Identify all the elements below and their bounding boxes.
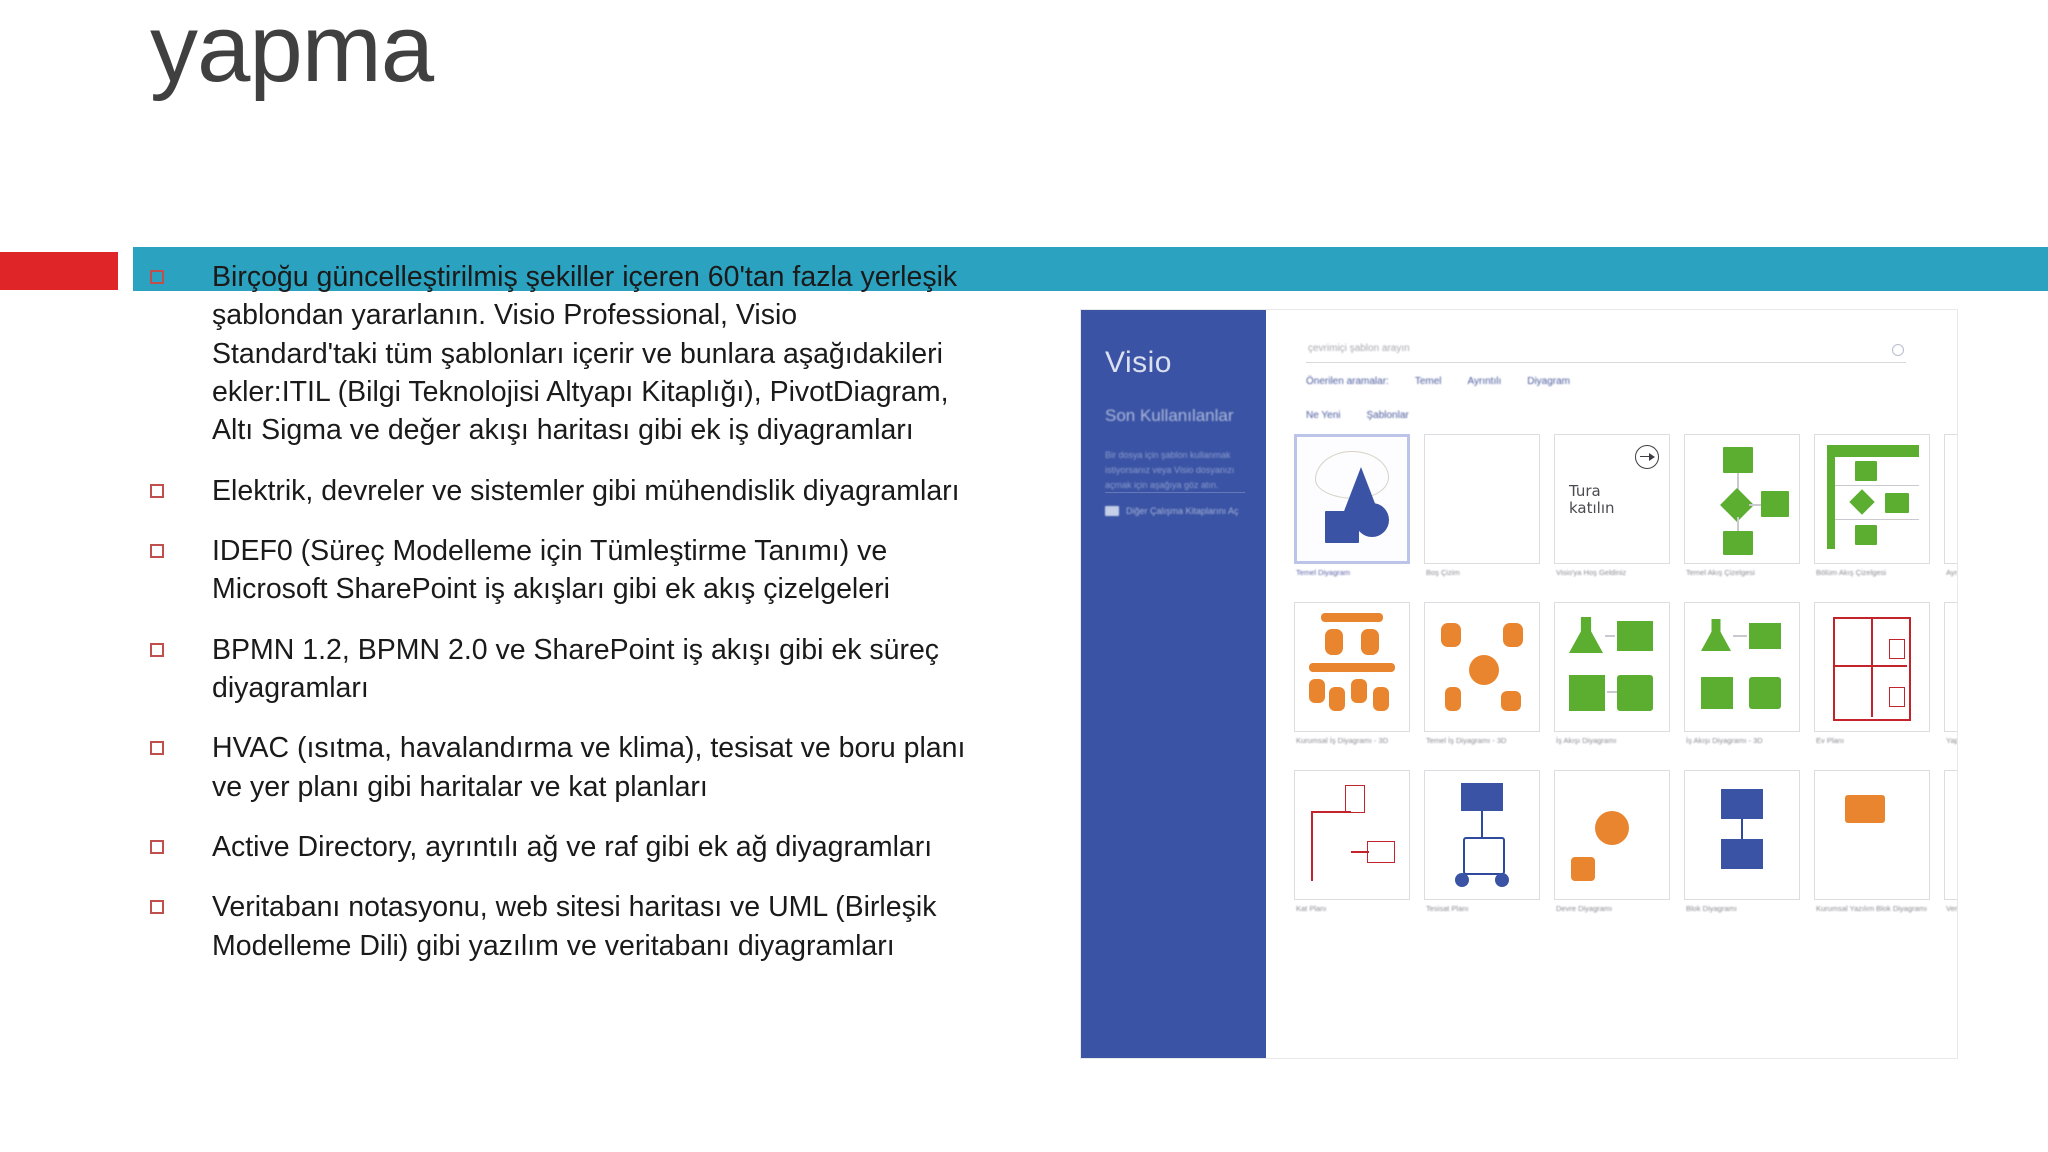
template-tile-block-diagram[interactable]: Blok Diyagramı [1684, 770, 1800, 932]
valve-icon [1455, 873, 1469, 887]
suggested-searches-label: Önerilen aramalar: [1306, 376, 1389, 387]
wall-line [1311, 811, 1313, 881]
template-tile-blank-drawing[interactable]: Boş Çizim [1424, 434, 1540, 596]
template-thumbnail [1944, 770, 1957, 900]
open-other-workbooks-link[interactable]: Diğer Çalışma Kitaplarını Aç [1105, 506, 1239, 516]
list-item-text: Active Directory, ayrıntılı ağ ve raf gi… [212, 828, 970, 866]
connector-line [1351, 851, 1369, 853]
open-other-workbooks-label: Diğer Çalışma Kitaplarını Aç [1126, 506, 1239, 516]
template-tile-take-a-tour[interactable]: Turakatılın Visio'ya Hoş Geldiniz [1554, 434, 1670, 596]
visio-start-screen-image: Visio Son Kullanılanlar Bir dosya için ş… [1081, 310, 1957, 1058]
divider [1105, 492, 1245, 493]
person-icon [1503, 623, 1523, 647]
wall-line [1833, 665, 1907, 667]
briefcase-icon [1749, 677, 1781, 709]
template-tile-cross-functional-flowchart[interactable]: Bölüm Akış Çizelgesi [1814, 434, 1930, 596]
template-tile-plumbing-plan[interactable]: Tesisat Planı [1424, 770, 1540, 932]
node-shape-icon [1723, 447, 1753, 473]
template-tile-software-block-diagram[interactable]: Kurumsal Yazılım Blok Diyagramı [1814, 770, 1930, 932]
folder-icon [1105, 506, 1119, 516]
template-label: Temel Diyagram [1296, 568, 1416, 577]
template-tile-workflow-diagram[interactable]: İş Akışı Diyagramı [1554, 602, 1670, 764]
node-shape-icon [1761, 491, 1789, 517]
square-bullet-icon [150, 643, 164, 657]
fixture-icon [1367, 841, 1395, 863]
center-circle-icon [1469, 655, 1499, 685]
template-label: Tesisat Planı [1426, 904, 1546, 913]
template-thumbnail [1684, 602, 1800, 732]
template-label: Veri Akışı Diyagramı [1946, 904, 1957, 913]
square-bullet-icon [150, 270, 164, 284]
template-label: Visio'ya Hoş Geldiniz [1556, 568, 1676, 577]
suggested-searches-row: Önerilen aramalar: Temel Ayrıntılı Diyag… [1306, 376, 1570, 387]
connector-line [1605, 635, 1615, 637]
visio-sidebar: Visio Son Kullanılanlar Bir dosya için ş… [1081, 310, 1266, 1058]
template-tile-basic-diagram[interactable]: Temel Diyagram [1294, 434, 1410, 596]
list-item: Elektrik, devreler ve sistemler gibi müh… [150, 472, 970, 510]
person-icon [1441, 623, 1461, 647]
template-thumbnail [1814, 602, 1930, 732]
template-thumbnail [1294, 770, 1410, 900]
template-tile-data-flow-diagram[interactable]: Veri Akışı Diyagramı [1944, 770, 1957, 932]
decision-shape-icon [1849, 489, 1874, 514]
person-icon [1373, 687, 1389, 711]
template-thumbnail [1684, 770, 1800, 900]
template-tile-circuit-diagram[interactable]: Devre Diyagramı [1554, 770, 1670, 932]
hierarchy-bar [1321, 613, 1383, 622]
template-thumbnail [1424, 602, 1540, 732]
swimlane-side-bar [1827, 445, 1835, 549]
node-icon [1595, 811, 1629, 845]
template-tile-workflow-diagram-3d[interactable]: İş Akışı Diyagramı - 3D [1684, 602, 1800, 764]
square-bullet-icon [150, 900, 164, 914]
tour-text: Turakatılın [1569, 483, 1615, 517]
connector-line [1481, 811, 1483, 837]
template-thumbnail [1554, 770, 1670, 900]
person-icon [1501, 691, 1521, 711]
template-tile-building-plan[interactable]: Yapı Planı [1944, 602, 1957, 764]
search-icon[interactable] [1892, 344, 1904, 356]
list-item: Veritabanı notasyonu, web sitesi haritas… [150, 888, 970, 965]
suggested-search-link[interactable]: Diyagram [1527, 376, 1570, 387]
swimlane-header-bar [1827, 445, 1919, 457]
template-label: Bölüm Akış Çizelgesi [1816, 568, 1936, 577]
template-thumbnail [1424, 434, 1540, 564]
template-label: İş Akışı Diyagramı - 3D [1686, 736, 1806, 745]
block-shape-icon [1721, 839, 1763, 869]
fixture-icon [1345, 785, 1365, 813]
factory-icon [1749, 623, 1781, 649]
square-bullet-icon [150, 544, 164, 558]
template-tile-basic-business-3d[interactable]: Temel İş Diyagramı - 3D [1424, 602, 1540, 764]
chart-icon [1569, 675, 1605, 711]
template-thumbnail [1944, 602, 1957, 732]
node-shape-icon [1885, 493, 1909, 513]
flask-icon [1569, 617, 1603, 653]
list-item-text: Birçoğu güncelleştirilmiş şekiller içere… [212, 258, 970, 450]
list-item: Active Directory, ayrıntılı ağ ve raf gi… [150, 828, 970, 866]
template-label: Ev Planı [1816, 736, 1936, 745]
node-shape-icon [1855, 461, 1877, 481]
list-item-text: Veritabanı notasyonu, web sitesi haritas… [212, 888, 970, 965]
template-label: Kurumsal İş Diyagramı - 3D [1296, 736, 1416, 745]
person-icon [1309, 679, 1325, 703]
suggested-search-link[interactable]: Temel [1415, 376, 1442, 387]
square-bullet-icon [150, 840, 164, 854]
square-bullet-icon [150, 484, 164, 498]
page-title: yapma [150, 0, 433, 104]
factory-icon [1617, 621, 1653, 651]
visio-sidebar-description: Bir dosya için şablon kullanmak istiyors… [1105, 448, 1247, 493]
chart-icon [1701, 677, 1733, 709]
suggested-search-link[interactable]: Ayrıntılı [1468, 376, 1502, 387]
equipment-icon [1463, 837, 1505, 875]
template-thumbnail [1424, 770, 1540, 900]
template-label: Kurumsal Yazılım Blok Diyagramı [1816, 904, 1936, 913]
template-tile-home-plan[interactable]: Ev Planı [1814, 602, 1930, 764]
template-label: Blok Diyagramı [1686, 904, 1806, 913]
list-item-text: HVAC (ısıtma, havalandırma ve klima), te… [212, 729, 970, 806]
node-shape-icon [1723, 531, 1753, 555]
swimlane-divider [1835, 519, 1919, 520]
briefcase-icon [1617, 675, 1653, 711]
template-label: Temel Akış Çizelgesi [1686, 568, 1806, 577]
tour-arrow-icon [1635, 445, 1659, 469]
template-label: Temel İş Diyagramı - 3D [1426, 736, 1546, 745]
template-thumbnail [1294, 602, 1410, 732]
template-label: Devre Diyagramı [1556, 904, 1676, 913]
search-placeholder: çevrimiçi şablon arayın [1308, 343, 1410, 354]
list-item: BPMN 1.2, BPMN 2.0 ve SharePoint iş akış… [150, 631, 970, 708]
template-thumbnail [1944, 434, 1957, 564]
fixture-icon [1889, 687, 1905, 707]
block-shape-icon [1845, 795, 1885, 823]
template-label: Yapı Planı [1946, 736, 1957, 745]
template-thumbnail [1684, 434, 1800, 564]
square-shape-icon [1325, 511, 1359, 543]
template-label: Boş Çizim [1426, 568, 1546, 577]
template-grid: Temel Diyagram Boş Çizim Turakatılın Vis… [1294, 434, 1957, 1058]
visio-logo: Visio [1105, 346, 1172, 380]
flask-icon [1701, 619, 1731, 651]
node-shape-icon [1855, 525, 1877, 545]
template-label: Kat Planı [1296, 904, 1416, 913]
person-icon [1361, 629, 1379, 655]
accent-bar-red [0, 252, 118, 290]
list-item-text: BPMN 1.2, BPMN 2.0 ve SharePoint iş akış… [212, 631, 970, 708]
template-label: İş Akışı Diyagramı [1556, 736, 1676, 745]
circle-shape-icon [1355, 503, 1389, 537]
person-icon [1351, 679, 1367, 703]
hierarchy-bar [1309, 663, 1395, 672]
person-icon [1445, 687, 1461, 711]
node-icon [1571, 857, 1595, 881]
template-thumbnail [1554, 602, 1670, 732]
visio-main-pane: çevrimiçi şablon arayın Önerilen aramala… [1266, 310, 1957, 1058]
fixture-icon [1889, 639, 1905, 659]
visio-recent-heading: Son Kullanılanlar [1105, 406, 1234, 426]
connector-line [1741, 819, 1743, 839]
square-bullet-icon [150, 741, 164, 755]
wall-line [1871, 617, 1873, 717]
template-tile-detailed-network-diagram[interactable]: Ayrıntılı Ağ Şeması [1944, 434, 1957, 596]
template-thumbnail [1294, 434, 1410, 564]
bullet-list: Birçoğu güncelleştirilmiş şekiller içere… [150, 258, 970, 987]
list-item-text: IDEF0 (Süreç Modelleme için Tümleştirme … [212, 532, 970, 609]
equipment-icon [1461, 783, 1503, 811]
category-tabs: Ne Yeni Şablonlar [1306, 410, 1409, 421]
tab-whats-new[interactable]: Ne Yeni [1306, 410, 1340, 421]
connector-line [1733, 635, 1747, 637]
list-item: Birçoğu güncelleştirilmiş şekiller içere… [150, 258, 970, 450]
search-input[interactable]: çevrimiçi şablon arayın [1306, 342, 1906, 363]
swimlane-divider [1835, 485, 1919, 486]
list-item: HVAC (ısıtma, havalandırma ve klima), te… [150, 729, 970, 806]
template-tile-org-chart-3d[interactable]: Kurumsal İş Diyagramı - 3D [1294, 602, 1410, 764]
valve-icon [1495, 873, 1509, 887]
person-icon [1329, 687, 1345, 711]
list-item-text: Elektrik, devreler ve sistemler gibi müh… [212, 472, 970, 510]
list-item: IDEF0 (Süreç Modelleme için Tümleştirme … [150, 532, 970, 609]
tab-templates[interactable]: Şablonlar [1366, 410, 1408, 421]
template-thumbnail: Turakatılın [1554, 434, 1670, 564]
template-thumbnail [1814, 770, 1930, 900]
template-label: Ayrıntılı Ağ Şeması [1946, 568, 1957, 577]
template-thumbnail [1814, 434, 1930, 564]
person-icon [1325, 629, 1343, 655]
template-tile-basic-flowchart[interactable]: Temel Akış Çizelgesi [1684, 434, 1800, 596]
connector-line [1607, 691, 1617, 693]
template-tile-floor-plan[interactable]: Kat Planı [1294, 770, 1410, 932]
block-shape-icon [1721, 789, 1763, 819]
